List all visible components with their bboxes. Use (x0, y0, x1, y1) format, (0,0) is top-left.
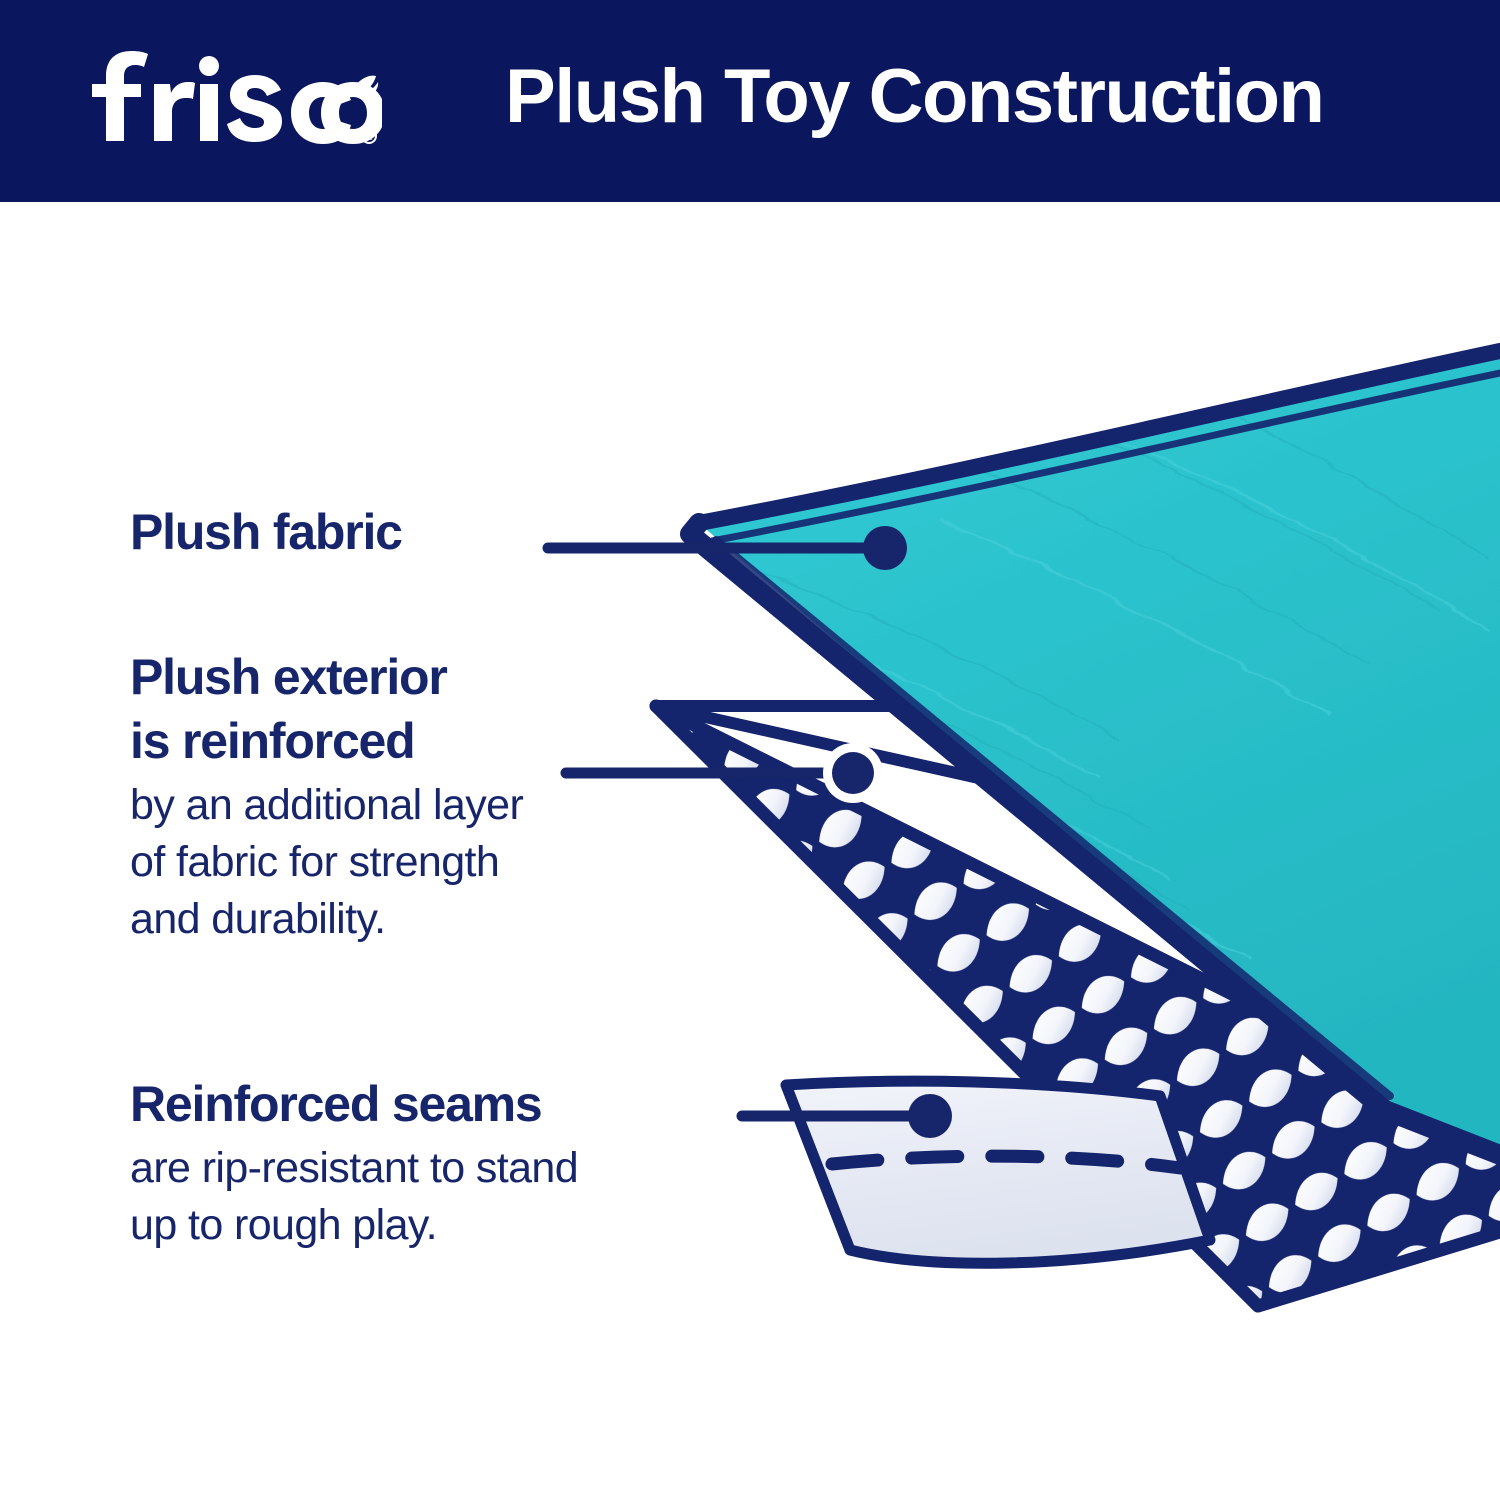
frisco-logo: R (82, 44, 382, 149)
plush-fabric-layer (660, 330, 1500, 1190)
svg-text:R: R (366, 132, 373, 143)
header-bar: R Plush Toy Construction (0, 0, 1500, 202)
mesh-reinforcement-layer (600, 640, 1500, 1360)
leader-dot-plush-fabric (863, 526, 907, 570)
callout-headline-reinforced-seams: Reinforced seams (130, 1072, 578, 1136)
leader-lines (548, 526, 952, 1138)
callout-body-reinforced-seams: are rip-resistant to stand up to rough p… (130, 1140, 578, 1254)
infographic-page: R Plush Toy Construction (0, 0, 1500, 1500)
leader-dot-halo-plush-exterior (823, 743, 883, 803)
leader-dot-plush-exterior (832, 752, 874, 794)
callout-headline-plush-exterior: Plush exterior is reinforced (130, 645, 523, 773)
dashed-stitch-line (832, 1156, 1180, 1168)
seam-flap-layer (786, 1081, 1210, 1263)
callout-plush-exterior: Plush exterior is reinforced by an addit… (130, 645, 523, 948)
callout-reinforced-seams: Reinforced seams are rip-resistant to st… (130, 1072, 578, 1254)
callout-headline-plush-fabric: Plush fabric (130, 500, 402, 564)
page-title: Plush Toy Construction (505, 42, 1405, 152)
callout-plush-fabric: Plush fabric (130, 500, 402, 564)
leader-dot-reinforced-seams (908, 1094, 952, 1138)
callout-body-plush-exterior: by an additional layer of fabric for str… (130, 777, 523, 948)
